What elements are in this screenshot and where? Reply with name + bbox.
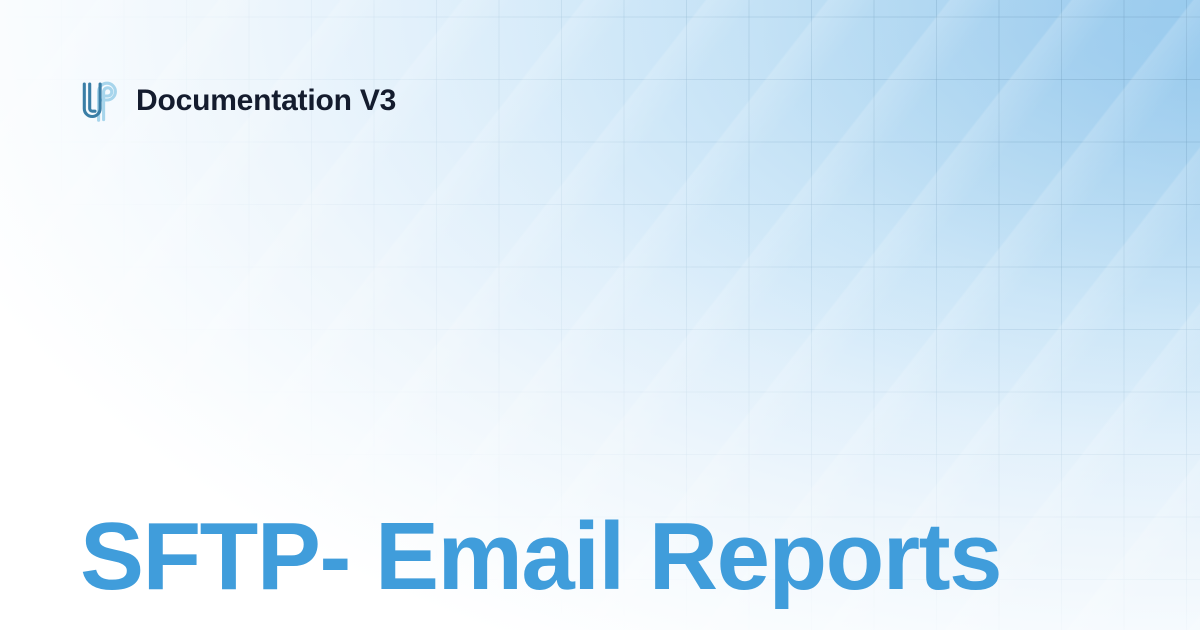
up-monogram-logo-icon	[78, 79, 120, 123]
brand-title: Documentation V3	[136, 86, 396, 116]
brand-lockup[interactable]: Documentation V3	[78, 78, 396, 124]
documentation-banner: Documentation V3 SFTP- Email Reports	[0, 0, 1200, 630]
page-title: SFTP- Email Reports	[80, 505, 1140, 609]
